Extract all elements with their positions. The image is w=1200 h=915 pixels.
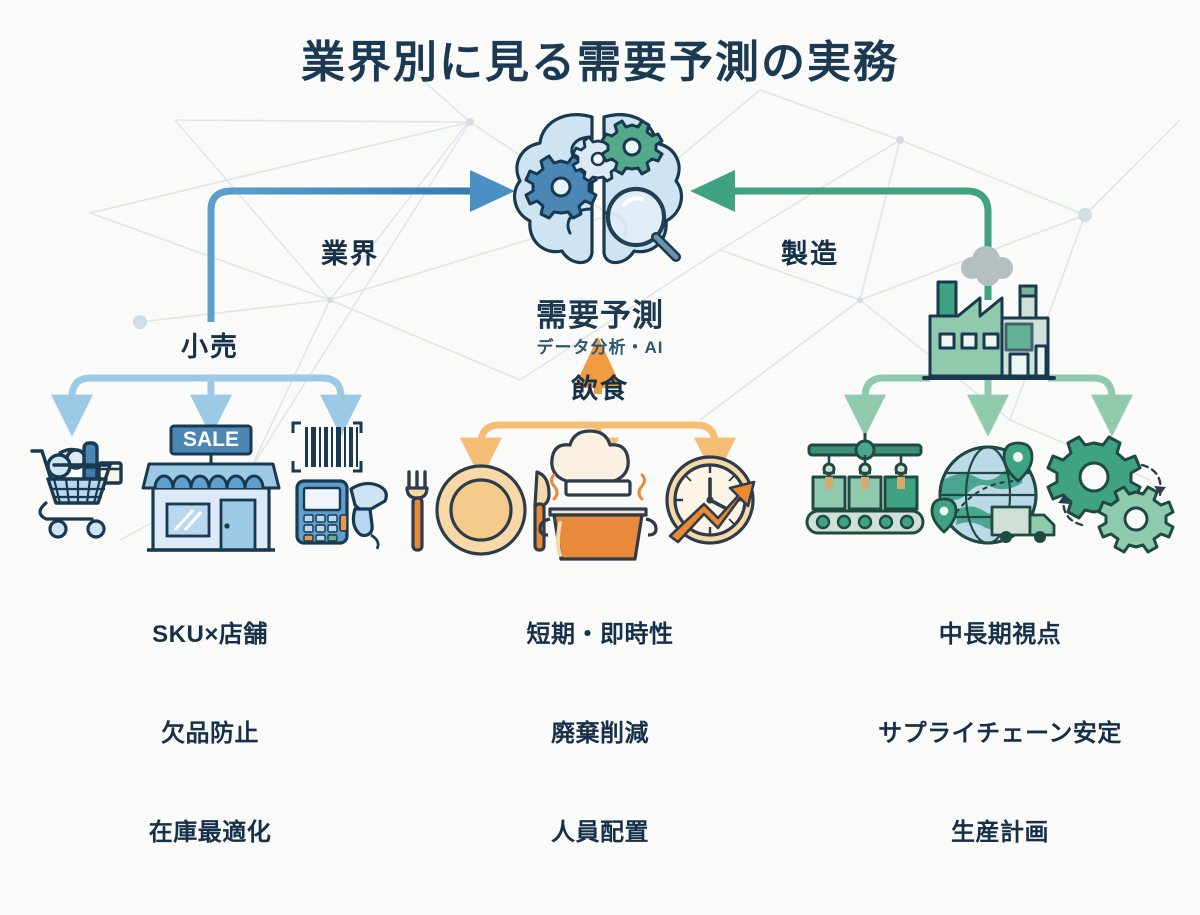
caption-line: 人員配置 <box>430 816 770 849</box>
caption-line: 中長期視点 <box>820 618 1180 651</box>
caption-food: 短期・即時性 廃棄削減 人員配置 <box>430 552 770 915</box>
caption-line: サプライチェーン安定 <box>820 717 1180 750</box>
caption-retail: SKU×店舗 欠品防止 在庫最適化 <box>40 552 380 915</box>
caption-line: 廃棄削減 <box>430 717 770 750</box>
caption-line: SKU×店舗 <box>40 618 380 651</box>
caption-line: 生産計画 <box>820 816 1180 849</box>
caption-line: 在庫最適化 <box>40 816 380 849</box>
hub-title: 需要予測 <box>400 290 800 335</box>
branch-label-manufacturing: 製造 <box>700 232 920 271</box>
hub-subtitle: データ分析・AI <box>400 333 800 358</box>
group-label-food: 飲食 <box>495 367 705 406</box>
infographic-canvas: SALE <box>0 0 1200 670</box>
branch-label-industry: 業界 <box>240 232 460 271</box>
caption-line: 短期・即時性 <box>430 618 770 651</box>
caption-manufacturing: 中長期視点 サプライチェーン安定 生産計画 <box>820 552 1180 915</box>
group-label-retail: 小売 <box>110 325 310 364</box>
caption-line: 欠品防止 <box>40 717 380 750</box>
text-layer: 業界別に見る需要予測の実務 需要予測 データ分析・AI 業界 製造 小売 飲食 … <box>0 0 1200 670</box>
page-title: 業界別に見る需要予測の実務 <box>0 26 1200 90</box>
